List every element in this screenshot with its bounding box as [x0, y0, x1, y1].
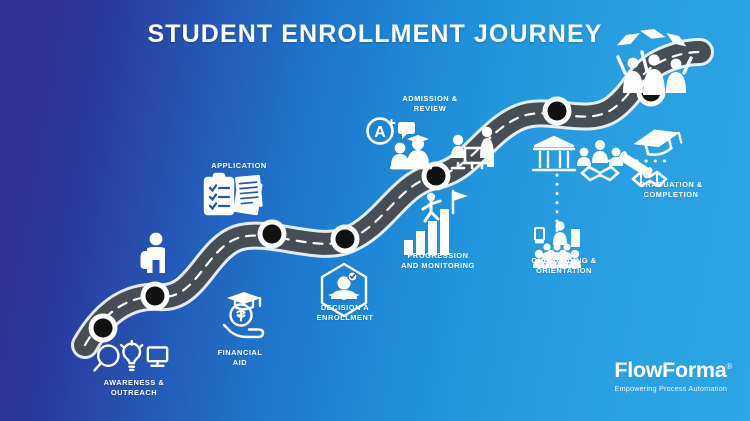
step-label-awareness-outreach: AWARENESS & OUTREACH: [78, 378, 190, 398]
student-with-backpack-icon: [141, 233, 166, 273]
step-label-financial-aid: FINANCIAL AID: [189, 348, 291, 368]
step-label-progression-monitoring: PROGRESSION AND MONITORING: [381, 251, 495, 271]
step-label-decision-enrollment: DECISION A ENROLLMENT: [289, 303, 401, 323]
milestone-node-4[interactable]: [331, 225, 360, 254]
milestone-node-6[interactable]: [543, 97, 572, 126]
cap-diploma-handshake-icon: [617, 124, 684, 186]
milestone-node-3[interactable]: [258, 220, 287, 249]
registered-mark: ®: [726, 361, 732, 370]
infographic-canvas: A: [0, 0, 750, 421]
flowforma-logo[interactable]: FlowForma® Empowering Process Automation: [614, 360, 732, 394]
clipboard-checklist-documents-icon: [205, 174, 263, 216]
svg-text:A: A: [374, 124, 386, 141]
step-label-onboarding-orientation: ONBOARDING & ORIENTATION: [503, 256, 625, 276]
milestone-node-1[interactable]: [89, 314, 118, 343]
brand-name: FlowForma®: [614, 360, 732, 382]
brand-name-text: FlowForma: [614, 358, 726, 382]
step-label-graduation-completion: GRADUATION & COMPLETION: [610, 180, 732, 200]
page-title: STUDENT ENROLLMENT JOURNEY: [0, 20, 750, 49]
team-handshake-icon: [577, 140, 623, 180]
step-label-admission-review: ADMISSION & REVIEW: [376, 94, 484, 114]
bank-columns-icon: [533, 137, 575, 170]
magnifier-lightbulb-monitor-icon: [94, 341, 167, 370]
brand-tagline: Empowering Process Automation: [614, 384, 732, 393]
graduation-cap-hand-coin-icon: [224, 292, 263, 337]
step-label-application: APPLICATION: [176, 161, 302, 171]
milestone-node-2[interactable]: [141, 282, 170, 311]
